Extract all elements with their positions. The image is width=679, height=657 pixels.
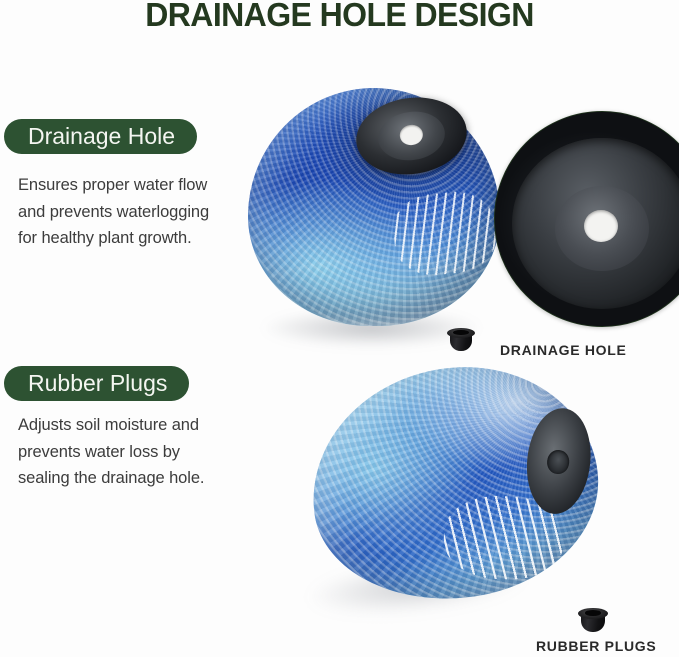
plug-flange (447, 328, 475, 338)
pot-rib-texture-radial (301, 354, 609, 613)
pot-highlight-streaks (442, 495, 565, 582)
ceramic-planter-tilted-image (301, 354, 609, 613)
inset-background (494, 111, 679, 327)
caption-drainage-hole: DRAINAGE HOLE (500, 342, 627, 358)
inset-base-ring (555, 186, 648, 272)
pot-highlight-streaks (390, 188, 499, 279)
rubber-plug-icon (578, 608, 608, 634)
plug-bore (453, 330, 469, 335)
drainage-hole-closeup-inset (494, 111, 679, 327)
sealed-drainage-hole (546, 449, 570, 474)
pot-base-plate (352, 90, 472, 181)
pot-rim (253, 259, 495, 326)
pot-base-plate (522, 405, 596, 517)
caption-rubber-plugs: RUBBER PLUGS (536, 638, 656, 654)
pot-rib-texture (301, 354, 609, 613)
badge-drainage-hole: Drainage Hole (4, 119, 197, 154)
plug-barrel (581, 613, 606, 632)
badge-rubber-plugs: Rubber Plugs (4, 366, 189, 401)
pot-drop-shadow (263, 309, 480, 347)
ceramic-planter-inverted-image (248, 88, 500, 326)
product-image-stage (0, 0, 679, 657)
inset-base-plate (512, 138, 679, 309)
pot-glazed-body (248, 88, 500, 326)
description-rubber-plugs: Adjusts soil moisture and prevents water… (18, 412, 223, 492)
drainage-hole (399, 123, 424, 146)
inset-glaze-edge (494, 111, 679, 327)
pot-rib-texture-radial (248, 88, 500, 326)
inset-drainage-hole (584, 210, 618, 243)
pot-drop-shadow (303, 550, 530, 624)
description-drainage-hole: Ensures proper water flow and prevents w… (18, 172, 223, 252)
rubber-plug-icon (447, 328, 475, 352)
page-title: DRAINAGE HOLE DESIGN (10, 0, 669, 34)
plug-flange (578, 608, 608, 619)
pot-base-ring (375, 107, 448, 165)
plug-bore (585, 610, 602, 616)
pot-rib-texture (248, 88, 500, 326)
pot-glazed-body (301, 354, 609, 613)
plug-barrel (450, 333, 473, 351)
